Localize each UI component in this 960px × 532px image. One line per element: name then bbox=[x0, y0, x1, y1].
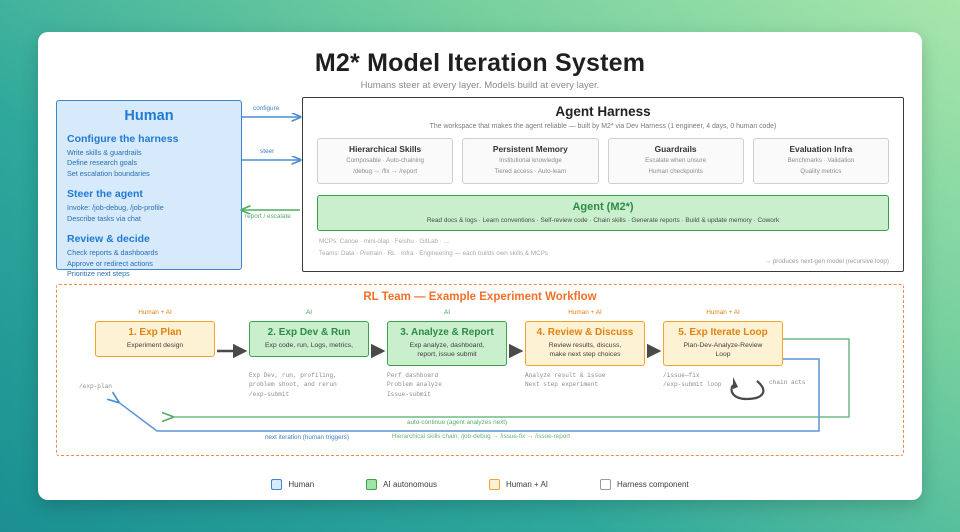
component-line: Benchmarks · Validation bbox=[756, 156, 886, 165]
human-section-heading-steer: Steer the agent bbox=[67, 188, 241, 200]
component-line: Institutional knowledge bbox=[465, 156, 595, 165]
harness-component-guardrails[interactable]: Guardrails Escalate when unsure Human ch… bbox=[608, 138, 744, 184]
teams-line: Teams: Data · Pretrain · RL · Infra · En… bbox=[319, 250, 903, 257]
step-mono-2: Exp Dev, run, profiling, problem shoot, … bbox=[249, 371, 337, 399]
workflow-step-2[interactable]: 2. Exp Dev & Run Exp code, run, Logs, me… bbox=[249, 321, 369, 357]
step-mono-3: Perf dashboard Problem analyze Issue-sub… bbox=[387, 371, 442, 399]
main-card: M2* Model Iteration System Humans steer … bbox=[38, 32, 922, 500]
workflow-step-5[interactable]: 5. Exp Iterate Loop Plan-Dev-Analyze-Rev… bbox=[663, 321, 783, 366]
step-role-2: AI bbox=[249, 309, 369, 316]
step-desc: Exp code, run, Logs, metrics, bbox=[253, 341, 365, 350]
component-line: Human checkpoints bbox=[611, 167, 741, 176]
human-section-line: Prioritize next steps bbox=[67, 269, 241, 279]
step-mono-4: Analyze result & issue Next step experim… bbox=[525, 371, 605, 390]
legend-label: Harness component bbox=[617, 480, 689, 489]
human-section-heading-review: Review & decide bbox=[67, 233, 241, 245]
chain-acts-label: chain acts bbox=[769, 379, 806, 386]
human-section-line: Write skills & guardrails bbox=[67, 148, 241, 158]
step-role-1: Human + AI bbox=[95, 309, 215, 316]
component-line: Escalate when unsure bbox=[611, 156, 741, 165]
mcps-line: MCPs: Canoe · mini-olap · Feishu · GitLa… bbox=[319, 238, 903, 245]
legend-swatch-ai bbox=[366, 479, 377, 490]
human-section-line: Approve or redirect actions bbox=[67, 259, 241, 269]
legend-item-harness-component: Harness component bbox=[600, 479, 689, 490]
connector-label-steer: steer bbox=[260, 148, 274, 155]
legend-label: Human + AI bbox=[506, 480, 548, 489]
step-desc: Exp analyze, dashboard, report, issue su… bbox=[391, 341, 503, 359]
human-panel-title: Human bbox=[57, 108, 241, 124]
legend-item-human: Human bbox=[271, 479, 314, 490]
workflow-panel: RL Team — Example Experiment Workflow Hu… bbox=[56, 284, 904, 456]
component-name: Evaluation Infra bbox=[756, 144, 886, 154]
step-name: 2. Exp Dev & Run bbox=[253, 327, 365, 338]
component-line: /debug → /fix → /report bbox=[320, 167, 450, 176]
agent-box[interactable]: Agent (M2*) Read docs & logs · Learn con… bbox=[317, 195, 889, 231]
page-title: M2* Model Iteration System bbox=[38, 49, 922, 78]
skills-chain-label: Hierarchical skills chain: /job-debug → … bbox=[57, 433, 905, 440]
auto-continue-label: auto-continue (agent analyzes next) bbox=[407, 419, 507, 426]
step-name: 5. Exp Iterate Loop bbox=[667, 327, 779, 338]
agent-harness-panel: Agent Harness The workspace that makes t… bbox=[302, 97, 904, 272]
human-section-line: Check reports & dashboards bbox=[67, 248, 241, 258]
harness-title: Agent Harness bbox=[303, 104, 903, 119]
human-section-line: Set escalation boundaries bbox=[67, 169, 241, 179]
step-name: 4. Review & Discuss bbox=[529, 327, 641, 338]
human-panel: Human Configure the harness Write skills… bbox=[56, 100, 242, 270]
legend-item-ai-autonomous: AI autonomous bbox=[366, 479, 437, 490]
human-section-line: Define research goals bbox=[67, 158, 241, 168]
step-role-3: AI bbox=[387, 309, 507, 316]
agent-capabilities: Read docs & logs · Learn conventions · S… bbox=[322, 217, 884, 224]
human-section-heading-configure: Configure the harness bbox=[67, 133, 241, 145]
page-subtitle: Humans steer at every layer. Models buil… bbox=[38, 80, 922, 91]
human-section-line: Describe tasks via chat bbox=[67, 214, 241, 224]
component-name: Hierarchical Skills bbox=[320, 144, 450, 154]
human-section-line: Invoke: /job-debug, /job-profile bbox=[67, 203, 241, 213]
workflow-step-1[interactable]: 1. Exp Plan Experiment design bbox=[95, 321, 215, 357]
connector-label-configure: configure bbox=[253, 105, 279, 112]
step-name: 1. Exp Plan bbox=[99, 327, 211, 338]
workflow-steps: Human + AI 1. Exp Plan Experiment design… bbox=[57, 309, 905, 389]
step-mono-5: /issue—fix /exp-submit loop bbox=[663, 371, 722, 390]
connector-label-report: report / escalate bbox=[245, 213, 291, 220]
legend-label: Human bbox=[288, 480, 314, 489]
step-desc: Review results, discuss, make next step … bbox=[529, 341, 641, 359]
harness-component-row: Hierarchical Skills Composable · Auto-ch… bbox=[303, 138, 903, 184]
legend-item-human-plus-ai: Human + AI bbox=[489, 479, 548, 490]
step-role-4: Human + AI bbox=[525, 309, 645, 316]
produces-note: → produces next-gen model (recursive loo… bbox=[765, 258, 889, 265]
workflow-title: RL Team — Example Experiment Workflow bbox=[57, 291, 903, 303]
legend-swatch-human-ai bbox=[489, 479, 500, 490]
legend-swatch-harness bbox=[600, 479, 611, 490]
harness-component-evaluation-infra[interactable]: Evaluation Infra Benchmarks · Validation… bbox=[753, 138, 889, 184]
harness-component-persistent-memory[interactable]: Persistent Memory Institutional knowledg… bbox=[462, 138, 598, 184]
step-mono-1: /exp-plan bbox=[79, 382, 112, 391]
workflow-step-4[interactable]: 4. Review & Discuss Review results, disc… bbox=[525, 321, 645, 366]
component-line: Quality metrics bbox=[756, 167, 886, 176]
harness-component-hierarchical-skills[interactable]: Hierarchical Skills Composable · Auto-ch… bbox=[317, 138, 453, 184]
step-name: 3. Analyze & Report bbox=[391, 327, 503, 338]
component-line: Tiered access · Auto-learn bbox=[465, 167, 595, 176]
legend: Human AI autonomous Human + AI Harness c… bbox=[38, 479, 922, 490]
step-desc: Plan-Dev-Analyze-Review Loop bbox=[667, 341, 779, 359]
legend-swatch-human bbox=[271, 479, 282, 490]
harness-subtitle: The workspace that makes the agent relia… bbox=[303, 123, 903, 130]
agent-title: Agent (M2*) bbox=[322, 201, 884, 213]
legend-label: AI autonomous bbox=[383, 480, 437, 489]
step-role-5: Human + AI bbox=[663, 309, 783, 316]
component-name: Persistent Memory bbox=[465, 144, 595, 154]
workflow-step-3[interactable]: 3. Analyze & Report Exp analyze, dashboa… bbox=[387, 321, 507, 366]
component-name: Guardrails bbox=[611, 144, 741, 154]
step-desc: Experiment design bbox=[99, 341, 211, 350]
component-line: Composable · Auto-chaining bbox=[320, 156, 450, 165]
